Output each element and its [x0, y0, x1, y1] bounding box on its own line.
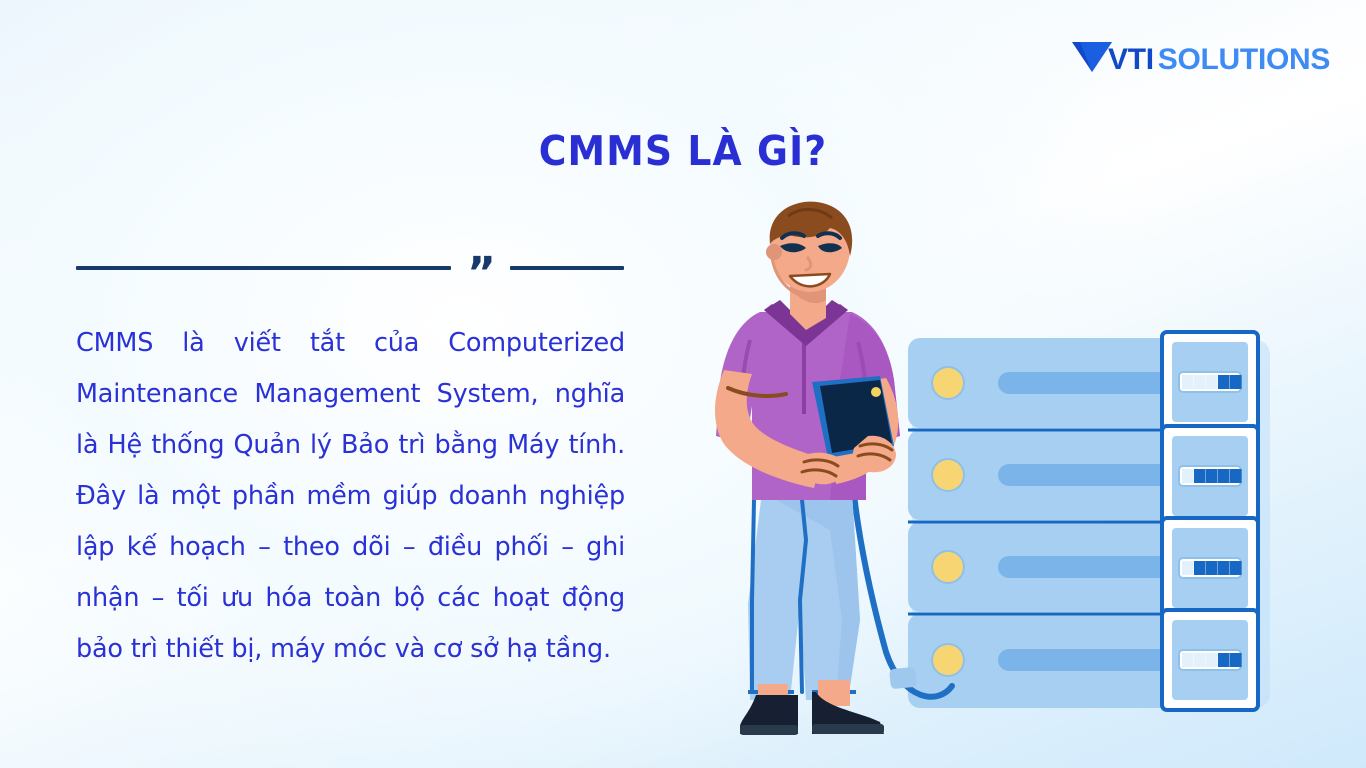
logo-wordmark: VTI SOLUTIONS	[1108, 45, 1330, 75]
divider-rule-short	[510, 266, 624, 270]
rack-unit-2-segments	[1179, 466, 1242, 486]
page-title: CMMS LÀ GÌ?	[55, 127, 1312, 175]
pants-outline-left	[752, 500, 754, 692]
rack-unit-4	[908, 610, 1260, 710]
shoe-left	[740, 695, 798, 735]
logo-solutions-label: SOLUTIONS	[1158, 45, 1330, 75]
server-rack	[908, 332, 1270, 710]
slide-canvas: VTI SOLUTIONS CMMS LÀ GÌ? ” CMMS là viết…	[0, 0, 1366, 768]
divider: ”	[76, 255, 624, 281]
rack-unit-2	[908, 426, 1260, 526]
rack-unit-4-segments	[1179, 650, 1242, 670]
logo-text-solutions: SOLUTIONS	[1158, 45, 1330, 75]
rack-unit-1	[908, 332, 1260, 432]
vti-solutions-logo[interactable]: VTI SOLUTIONS	[1070, 40, 1330, 79]
body-paragraph: CMMS là viết tắt của Computerized Mainte…	[76, 318, 625, 675]
rack-unit-1-segments	[1179, 372, 1242, 392]
head	[766, 202, 852, 296]
rack-unit-3-segments	[1179, 558, 1242, 578]
rack-unit-3	[908, 518, 1260, 618]
person-technician	[715, 202, 900, 735]
divider-rule-long	[76, 266, 451, 270]
logo-text-vti: VTI	[1108, 45, 1154, 75]
illustration-technician-server	[690, 200, 1310, 740]
